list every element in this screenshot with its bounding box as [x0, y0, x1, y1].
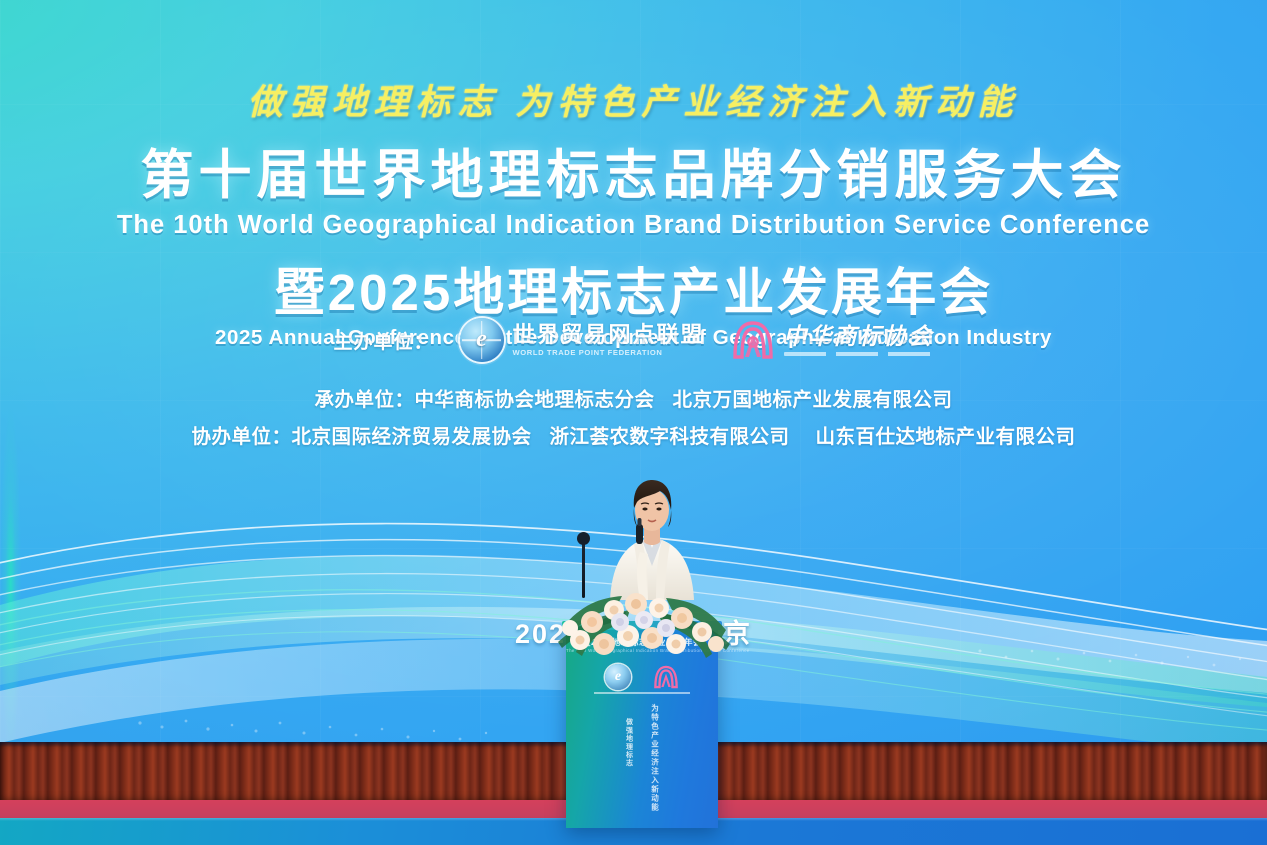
host-name-chinese-cta: 中华商标协会: [784, 325, 934, 348]
undertaker-entity-2: 北京万国地标产业发展有限公司: [673, 389, 953, 411]
podium-vertical-right: 为特色产业经济注入新动能: [650, 704, 661, 822]
podium-vertical-slogan: 做强地理标志 为特色产业经济注入新动能: [566, 704, 718, 822]
arch-a-emblem-icon: [731, 320, 775, 360]
host-name-english-wtpf: WORLD TRADE POINT FEDERATION: [513, 349, 705, 357]
coorganizer-entity-3: 山东百仕达地标产业有限公司: [816, 426, 1076, 448]
event-subtitle-chinese: 暨2025地理标志产业发展年会: [0, 251, 1267, 325]
podium-globe-emblem-icon: e: [605, 664, 631, 690]
podium-logo-row: e: [566, 664, 718, 690]
podium-flower-arrangement: [556, 556, 732, 664]
host-organizations-row: 主办单位： e 世界贸易网点联盟 WORLD TRADE POINT FEDER…: [0, 318, 1267, 362]
undertaker-entity-1: 中华商标协会地理标志分会: [414, 389, 654, 411]
podium-arch-a-emblem-icon: [653, 665, 679, 689]
podium-divider: [594, 692, 690, 694]
organizer-line-coorganizer: 协办单位：北京国际经济贸易发展协会浙江荟农数字科技有限公司山东百仕达地标产业有限…: [0, 420, 1267, 449]
host-name-english-cta-rule: [784, 352, 934, 356]
undertaker-label: 承办单位：: [314, 389, 414, 411]
organizer-lines: 承办单位：中华商标协会地理标志分会北京万国地标产业发展有限公司 协办单位：北京国…: [0, 383, 1267, 457]
coorganizer-label: 协办单位：: [191, 426, 291, 448]
host-logo-cta: 中华商标协会: [731, 320, 934, 360]
globe-emblem-letter: e: [460, 326, 504, 353]
podium-vertical-left: 做强地理标志: [624, 704, 634, 822]
event-slogan: 做强地理标志 为特色产业经济注入新动能: [0, 74, 1267, 125]
host-logo-wtpf: e 世界贸易网点联盟 WORLD TRADE POINT FEDERATION: [460, 318, 705, 362]
conference-headline-block: 做强地理标志 为特色产业经济注入新动能 第十届世界地理标志品牌分销服务大会 Th…: [0, 0, 1267, 350]
event-title-english: The 10th World Geographical Indication B…: [0, 211, 1267, 240]
organizer-line-undertaker: 承办单位：中华商标协会地理标志分会北京万国地标产业发展有限公司: [0, 383, 1267, 412]
event-title-chinese: 第十届世界地理标志品牌分销服务大会: [0, 133, 1267, 209]
conference-stage-photo: 做强地理标志 为特色产业经济注入新动能 第十届世界地理标志品牌分销服务大会 Th…: [0, 0, 1267, 845]
coorganizer-entity-1: 北京国际经济贸易发展协会: [291, 426, 531, 448]
globe-emblem-icon: e: [460, 318, 504, 362]
host-name-chinese-wtpf: 世界贸易网点联盟: [513, 324, 705, 346]
host-label: 主办单位：: [333, 327, 433, 354]
coorganizer-entity-2: 浙江荟农数字科技有限公司: [550, 426, 790, 448]
